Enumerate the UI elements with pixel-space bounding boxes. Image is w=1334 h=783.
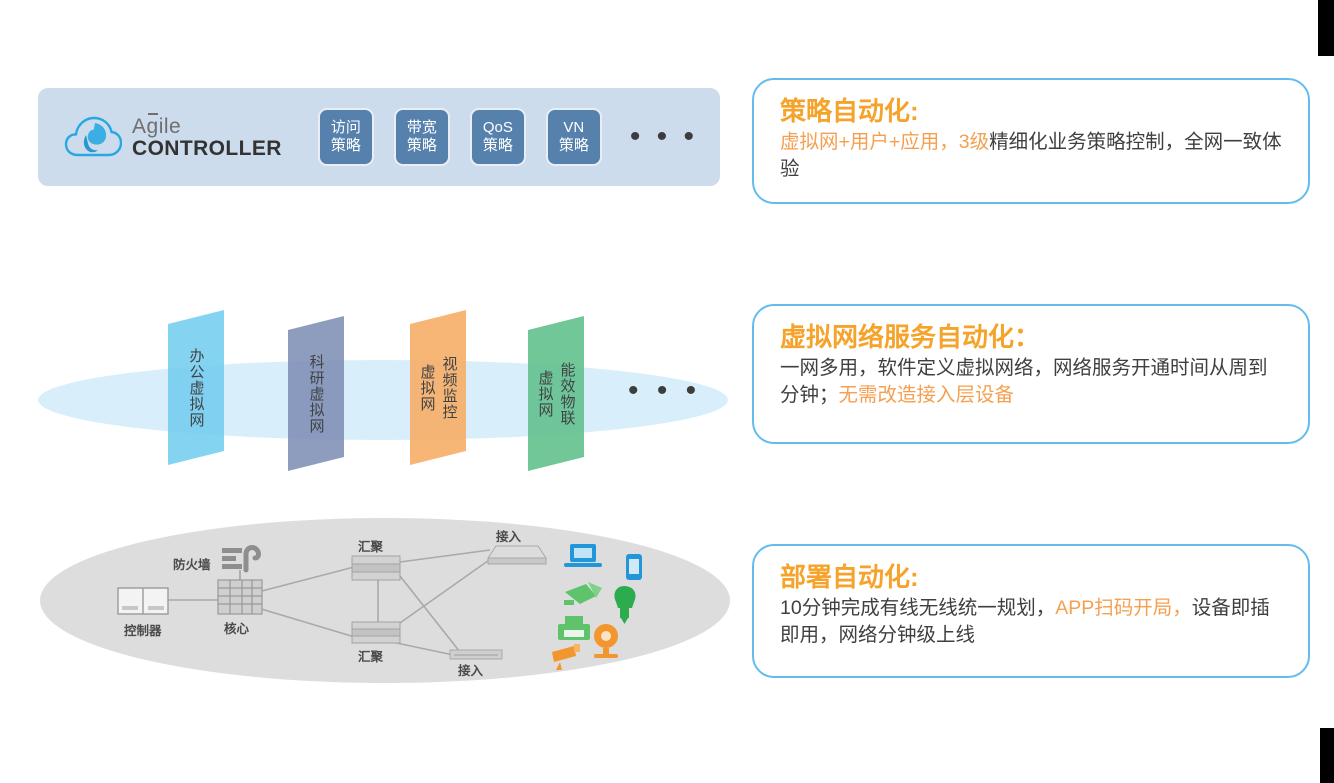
tablet-icon [626, 554, 642, 580]
chip-line1: VN [563, 119, 584, 137]
slide-frame-bar-bottom-right [1320, 728, 1334, 783]
network-backdrop-ellipse [38, 360, 728, 440]
policy-chip-list: 访问 策略 带宽 策略 QoS 策略 VN 策略 • • • [318, 108, 698, 166]
topology-label-agg-top: 汇聚 [358, 536, 383, 555]
brand-controller: CONTROLLER [132, 138, 282, 160]
network-topology-stage: 控制器 防火墙 核心 汇聚 汇聚 接入 接入 [40, 518, 730, 698]
policy-chip-ellipsis: • • • [630, 131, 698, 143]
vn-slab-label-secondary: 虚拟网 [535, 370, 556, 418]
topology-graphics [40, 518, 730, 698]
feature-card-virtual-network-service: 虚拟网络服务自动化： 一网多用，软件定义虚拟网络，网络服务开通时间从周到分钟；无… [752, 304, 1310, 444]
vn-slab-label: 科研虚拟网 [306, 354, 327, 434]
chip-line2: 策略 [483, 137, 513, 155]
stacked-switch-icon [352, 556, 400, 580]
topology-label-core: 核心 [224, 618, 249, 637]
feature-card-deployment-automation: 部署自动化: 10分钟完成有线无线统一规划，APP扫码开局，设备即插即用，网络分… [752, 544, 1310, 678]
card-body-plain: 10分钟完成有线无线统一规划， [780, 597, 1055, 619]
vn-slab-label: 能效物联 [557, 362, 578, 426]
chip-line2: 策略 [559, 137, 589, 155]
vn-slab-label-secondary: 虚拟网 [417, 364, 438, 412]
vn-slab-energy-iot: 虚拟网 能效物联 [528, 316, 584, 471]
agile-controller-wordmark: Agile CONTROLLER [132, 114, 282, 160]
topology-label-access-top: 接入 [496, 526, 521, 545]
card-title: 策略自动化: [780, 96, 1286, 127]
topology-label-agg-bottom: 汇聚 [358, 646, 383, 665]
agile-controller-bar: Agile CONTROLLER 访问 策略 带宽 策略 QoS 策略 VN 策… [38, 88, 720, 186]
webcam-icon [594, 624, 618, 658]
firewall-icon [222, 547, 258, 570]
agile-controller-logo: Agile CONTROLLER [64, 113, 282, 161]
chip-line1: 访问 [331, 119, 361, 137]
vn-slab-label: 视频监控 [439, 356, 460, 420]
server-rack-icon [118, 588, 168, 614]
topology-label-access-bottom: 接入 [458, 660, 483, 679]
policy-chip-bandwidth[interactable]: 带宽 策略 [394, 108, 450, 166]
card-body: 虚拟网+用户+应用，3级精细化业务策略控制，全网一致体验 [780, 129, 1286, 184]
laptop-icon [564, 544, 602, 567]
access-switch-icon [488, 546, 546, 564]
cctv-camera-icon [552, 644, 580, 670]
chip-line2: 策略 [331, 137, 361, 155]
diagram-column: Agile CONTROLLER 访问 策略 带宽 策略 QoS 策略 VN 策… [0, 0, 745, 783]
feature-card-policy-automation: 策略自动化: 虚拟网+用户+应用，3级精细化业务策略控制，全网一致体验 [752, 78, 1310, 204]
policy-chip-qos[interactable]: QoS 策略 [470, 108, 526, 166]
card-body-highlight: APP扫码开局， [1055, 597, 1192, 619]
cloud-swirl-icon [64, 113, 122, 161]
vn-slab-video-surveillance: 虚拟网 视频监控 [410, 310, 466, 465]
topology-links [168, 550, 492, 656]
vn-slab-research: 科研虚拟网 [288, 316, 344, 471]
card-body-highlight: 无需改造接入层设备 [839, 384, 1015, 406]
light-bulb-icon [614, 586, 635, 624]
chip-line2: 策略 [407, 137, 437, 155]
printer-icon [558, 616, 590, 640]
access-switch-icon [450, 650, 502, 659]
card-body: 10分钟完成有线无线统一规划，APP扫码开局，设备即插即用，网络分钟级上线 [780, 595, 1286, 650]
core-switch-icon [218, 570, 262, 614]
brand-agile: Agile [132, 116, 282, 138]
policy-chip-vn[interactable]: VN 策略 [546, 108, 602, 166]
card-body: 一网多用，软件定义虚拟网络，网络服务开通时间从周到分钟；无需改造接入层设备 [780, 355, 1286, 410]
virtual-network-stage: 办公虚拟网 科研虚拟网 虚拟网 视频监控 虚拟网 能效物联 • • • [20, 298, 740, 498]
sensor-icon [564, 582, 602, 605]
vn-slab-office: 办公虚拟网 [168, 310, 224, 465]
card-title: 部署自动化: [780, 562, 1286, 593]
chip-line1: QoS [483, 119, 513, 137]
stacked-switch-icon [352, 622, 400, 643]
topology-label-firewall: 防火墙 [173, 554, 211, 573]
chip-line1: 带宽 [407, 119, 437, 137]
topology-label-controller: 控制器 [124, 620, 162, 639]
card-body-highlight: 虚拟网+用户+应用，3级 [780, 131, 989, 153]
card-title: 虚拟网络服务自动化： [780, 322, 1286, 353]
slide-frame-bar-top-right [1318, 0, 1334, 56]
vn-slab-ellipsis: • • • [628, 383, 701, 398]
vn-slab-label: 办公虚拟网 [186, 348, 207, 428]
policy-chip-access[interactable]: 访问 策略 [318, 108, 374, 166]
